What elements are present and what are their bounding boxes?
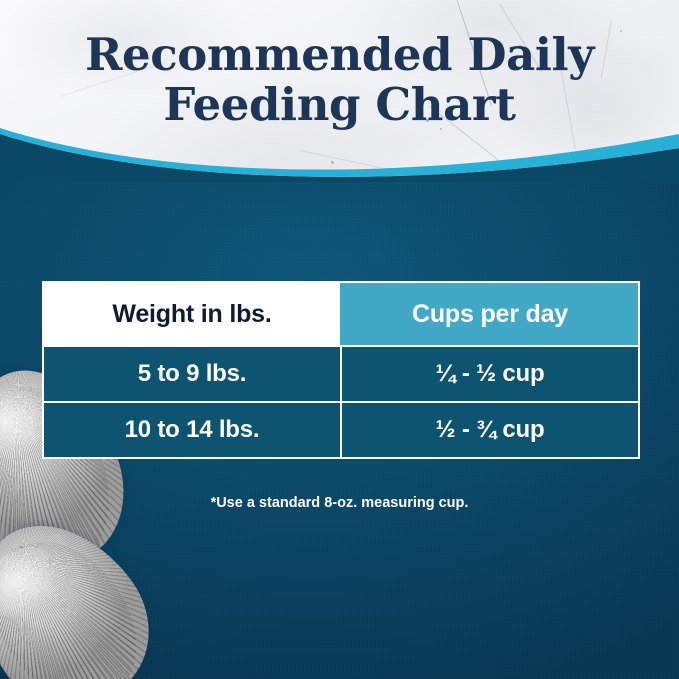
table-row: 5 to 9 lbs. ¼ - ½ cup [44,345,638,401]
cell-weight-range: 5 to 9 lbs. [44,347,340,401]
table-header-row: Weight in lbs. Cups per day [44,283,638,345]
feeding-chart-table: Weight in lbs. Cups per day 5 to 9 lbs. … [42,281,640,459]
cell-cups-per-day: ¼ - ½ cup [340,347,638,401]
title-line-1: Recommended Daily [0,30,679,80]
column-header-weight: Weight in lbs. [44,283,340,345]
cell-weight-range: 10 to 14 lbs. [44,403,340,457]
page-title: Recommended Daily Feeding Chart [0,30,679,130]
table-row: 10 to 14 lbs. ½ - ¾ cup [44,401,638,457]
title-line-2: Feeding Chart [0,80,679,130]
feeding-chart-page: Recommended Daily Feeding Chart Weight i… [0,0,679,679]
column-header-cups: Cups per day [340,283,638,345]
cell-cups-per-day: ½ - ¾ cup [340,403,638,457]
footnote-text: *Use a standard 8-oz. measuring cup. [0,495,679,511]
